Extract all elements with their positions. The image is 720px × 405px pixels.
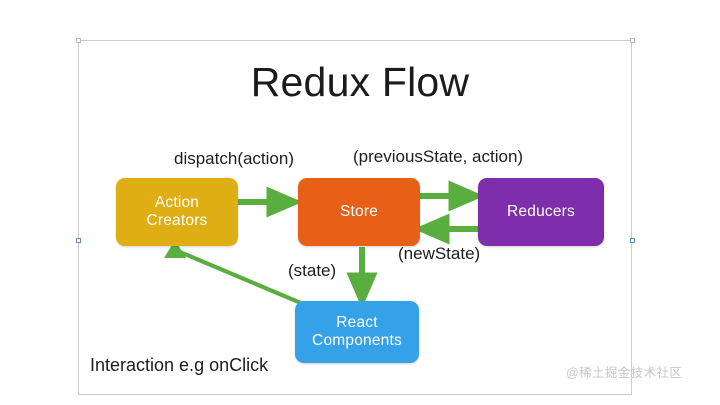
node-reducers[interactable]: Reducers bbox=[478, 178, 604, 246]
edge-label-new-state: (newState) bbox=[398, 245, 480, 264]
edge-label-interaction: Interaction e.g onClick bbox=[90, 356, 268, 376]
node-action-creators[interactable]: Action Creators bbox=[116, 178, 238, 246]
node-react-components-label-line1: React bbox=[312, 314, 402, 332]
node-action-creators-label-line1: Action bbox=[146, 194, 207, 212]
node-react-components-label-line2: Components bbox=[312, 332, 402, 350]
slide-canvas: Redux Flow bbox=[0, 0, 720, 405]
edge-label-previous-state: (previousState, action) bbox=[353, 148, 523, 167]
node-store[interactable]: Store bbox=[298, 178, 420, 246]
node-action-creators-label-line2: Creators bbox=[146, 212, 207, 230]
node-reducers-label: Reducers bbox=[507, 203, 575, 221]
node-store-label: Store bbox=[340, 203, 378, 221]
edge-label-state: (state) bbox=[288, 262, 336, 281]
watermark: @稀土掘金技术社区 bbox=[566, 362, 682, 381]
node-react-components[interactable]: React Components bbox=[295, 301, 419, 363]
edge-label-dispatch: dispatch(action) bbox=[174, 150, 294, 169]
